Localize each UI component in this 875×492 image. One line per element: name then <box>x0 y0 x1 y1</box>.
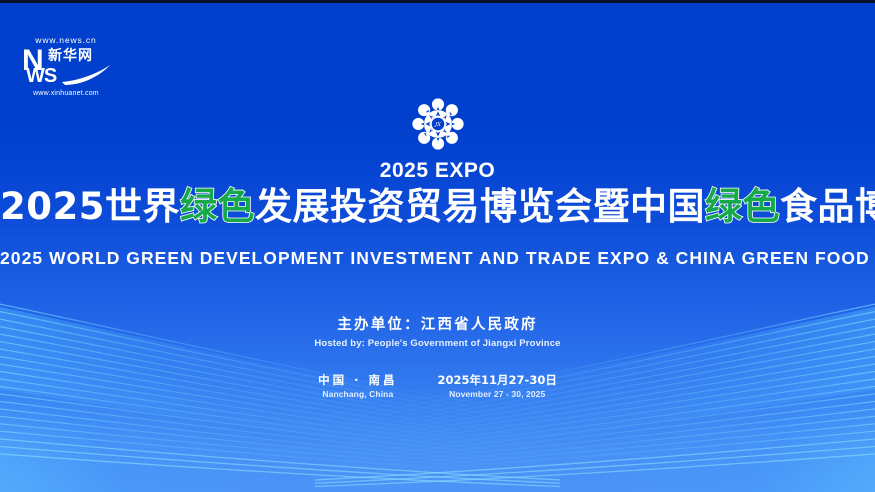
date-column: 2025年11月27-30日 November 27 - 30, 2025 <box>438 373 557 399</box>
host-block: 主办单位：江西省人民政府 Hosted by: People's Governm… <box>0 313 875 349</box>
xinhua-logo-mark: N WS 新 华 网 <box>14 47 118 89</box>
page-title-cn: 2025世界绿色发展投资贸易博览会暨中国绿色食品博览会 <box>0 188 875 227</box>
xinhua-char-wang: 网 <box>78 49 92 63</box>
title-cn-part2: 发展投资贸易博览会暨中国 <box>255 185 705 228</box>
title-cn-green1: 绿色 <box>180 185 255 228</box>
expo-emblem-icon: JX <box>405 96 471 157</box>
emblem-monogram: JX <box>434 122 441 128</box>
page-title-en: 2025 WORLD GREEN DEVELOPMENT INVESTMENT … <box>0 248 875 269</box>
expo-poster: www.news.cn N WS 新 华 网 www.xinhuanet.com <box>0 0 875 492</box>
xinhua-swoosh-icon <box>60 64 112 91</box>
title-cn-part3: 食品博览会 <box>780 185 875 228</box>
host-organizer-cn: 主办单位：江西省人民政府 <box>0 313 875 334</box>
venue-en: Nanchang, China <box>318 389 397 399</box>
date-cn: 2025年11月27-30日 <box>438 373 557 387</box>
expo-year-caption: 2025 EXPO <box>0 159 875 183</box>
emblem-block: JX 2025 EXPO <box>0 96 875 183</box>
title-cn-green2: 绿色 <box>705 185 780 228</box>
venue-date-block: 中国 · 南昌 Nanchang, China 2025年11月27-30日 N… <box>0 373 875 399</box>
venue-cn: 中国 · 南昌 <box>318 373 397 387</box>
xinhua-char-xin: 新 <box>48 49 62 63</box>
host-organizer-en: Hosted by: People's Government of Jiangx… <box>0 338 875 349</box>
top-edge-strip <box>0 0 875 3</box>
xinhua-news-logo[interactable]: www.news.cn N WS 新 华 网 www.xinhuanet.com <box>14 36 118 98</box>
venue-column: 中国 · 南昌 Nanchang, China <box>318 373 397 399</box>
title-cn-part1: 2025世界 <box>0 185 180 228</box>
date-en: November 27 - 30, 2025 <box>438 389 557 399</box>
xinhua-char-hua: 华 <box>63 49 77 63</box>
